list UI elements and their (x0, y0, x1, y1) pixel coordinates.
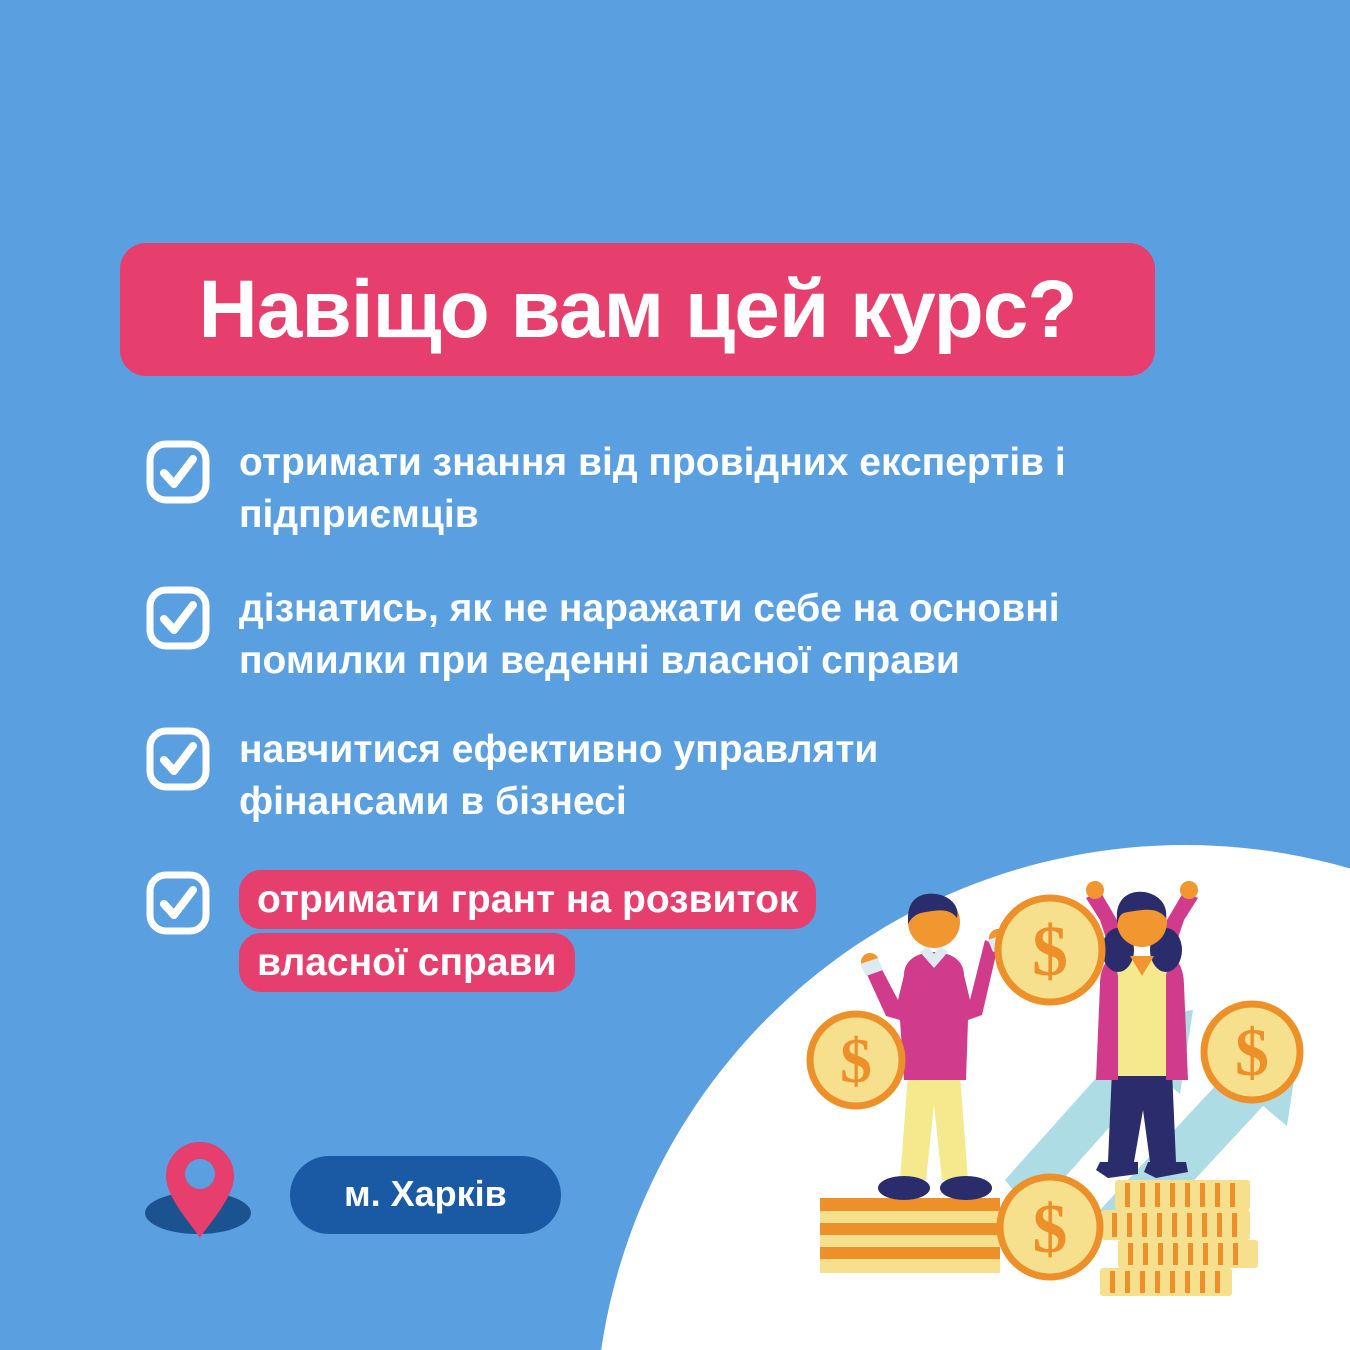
map-pin-icon (140, 1140, 260, 1250)
list-item: навчитися ефективно управляти фінансами … (145, 724, 1225, 828)
list-item-highlighted: отримати грант на розвиток власної справ… (145, 868, 1225, 994)
poster-canvas: $ $ $ $ Навіщо вам цей курс? (0, 0, 1350, 1350)
coin-dollar-icon: $ (810, 1014, 902, 1106)
city-badge[interactable]: м. Харків (290, 1156, 561, 1234)
checkbox-checked-icon (145, 439, 211, 505)
list-item: дізнатись, як не наражати себе на основн… (145, 583, 1225, 687)
list-item-label: дізнатись, як не наражати себе на основн… (239, 583, 1159, 687)
coin-dollar-icon: $ (1204, 1004, 1300, 1100)
page-title-banner: Навіщо вам цей курс? (120, 243, 1155, 376)
list-item-label: отримати знання від провідних експертів … (239, 437, 1189, 541)
highlight-wrapper: отримати грант на розвиток власної справ… (239, 868, 819, 994)
coin-stack (1100, 1180, 1258, 1296)
benefits-list: отримати знання від провідних експертів … (145, 437, 1225, 995)
list-item: отримати знання від провідних експертів … (145, 437, 1225, 541)
coin-stack (820, 1198, 1000, 1273)
page-title: Навіщо вам цей курс? (199, 269, 1077, 351)
coin-dollar-icon: $ (1000, 1177, 1100, 1277)
svg-text:$: $ (1033, 1191, 1068, 1268)
checkbox-checked-icon (145, 585, 211, 651)
checkbox-checked-icon (145, 726, 211, 792)
list-item-label: отримати грант на розвиток власної справ… (239, 870, 816, 992)
svg-text:$: $ (840, 1025, 872, 1096)
svg-text:$: $ (1235, 1014, 1269, 1090)
list-item-label: навчитися ефективно управляти фінансами … (239, 724, 979, 828)
checkbox-checked-icon (145, 870, 211, 936)
location-row: м. Харків (140, 1140, 561, 1250)
